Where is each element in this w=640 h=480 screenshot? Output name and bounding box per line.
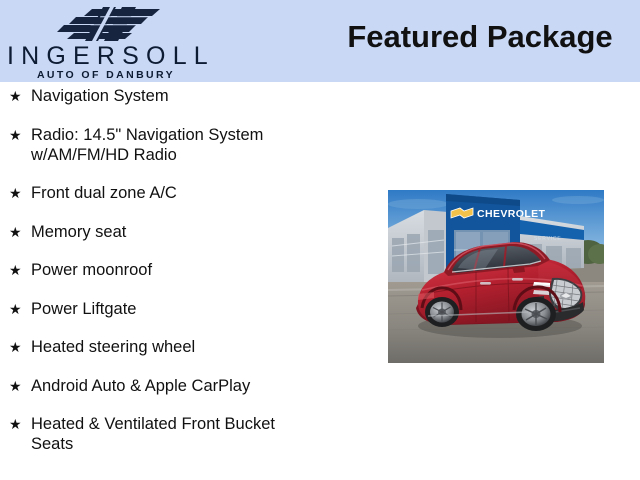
list-item-label: Heated & Ventilated Front Bucket Seats [31,414,360,454]
brand-tagline: AUTO OF DANBURY [0,70,210,81]
star-bullet-icon: ★ [9,222,31,242]
brand-logo: INGERSOLL AUTO OF DANBURY [0,2,210,80]
star-bullet-icon: ★ [9,299,31,319]
star-bullet-icon: ★ [9,337,31,357]
list-item: ★ Android Auto & Apple CarPlay [0,376,360,396]
list-item-label: Heated steering wheel [31,337,360,357]
list-item-label: Navigation System [31,86,360,106]
feature-list: ★ Navigation System ★ Radio: 14.5" Navig… [0,86,360,473]
list-item-label: Power Liftgate [31,299,360,319]
star-bullet-icon: ★ [9,376,31,396]
list-item: ★ Power Liftgate [0,299,360,319]
list-item: ★ Radio: 14.5" Navigation System w/AM/FM… [0,125,360,165]
winged-speed-emblem-icon [48,6,170,42]
list-item: ★ Power moonroof [0,260,360,280]
star-bullet-icon: ★ [9,125,31,145]
svg-text:SERVICE: SERVICE [534,236,561,242]
vehicle-photo: CHEVROLET SERVICE [388,190,604,363]
star-bullet-icon: ★ [9,183,31,203]
list-item: ★ Front dual zone A/C [0,183,360,203]
star-bullet-icon: ★ [9,86,31,106]
list-item: ★ Memory seat [0,222,360,242]
page-title: Featured Package [330,19,630,55]
list-item-label: Radio: 14.5" Navigation System w/AM/FM/H… [31,125,360,165]
star-bullet-icon: ★ [9,260,31,280]
list-item: ★ Navigation System [0,86,360,106]
brand-wordmark: INGERSOLL [0,44,210,69]
list-item: ★ Heated & Ventilated Front Bucket Seats [0,414,360,454]
list-item-label: Power moonroof [31,260,360,280]
list-item: ★ Heated steering wheel [0,337,360,357]
list-item-label: Front dual zone A/C [31,183,360,203]
list-item-label: Android Auto & Apple CarPlay [31,376,360,396]
list-item-label: Memory seat [31,222,360,242]
star-bullet-icon: ★ [9,414,31,434]
svg-text:CHEVROLET: CHEVROLET [477,208,546,220]
